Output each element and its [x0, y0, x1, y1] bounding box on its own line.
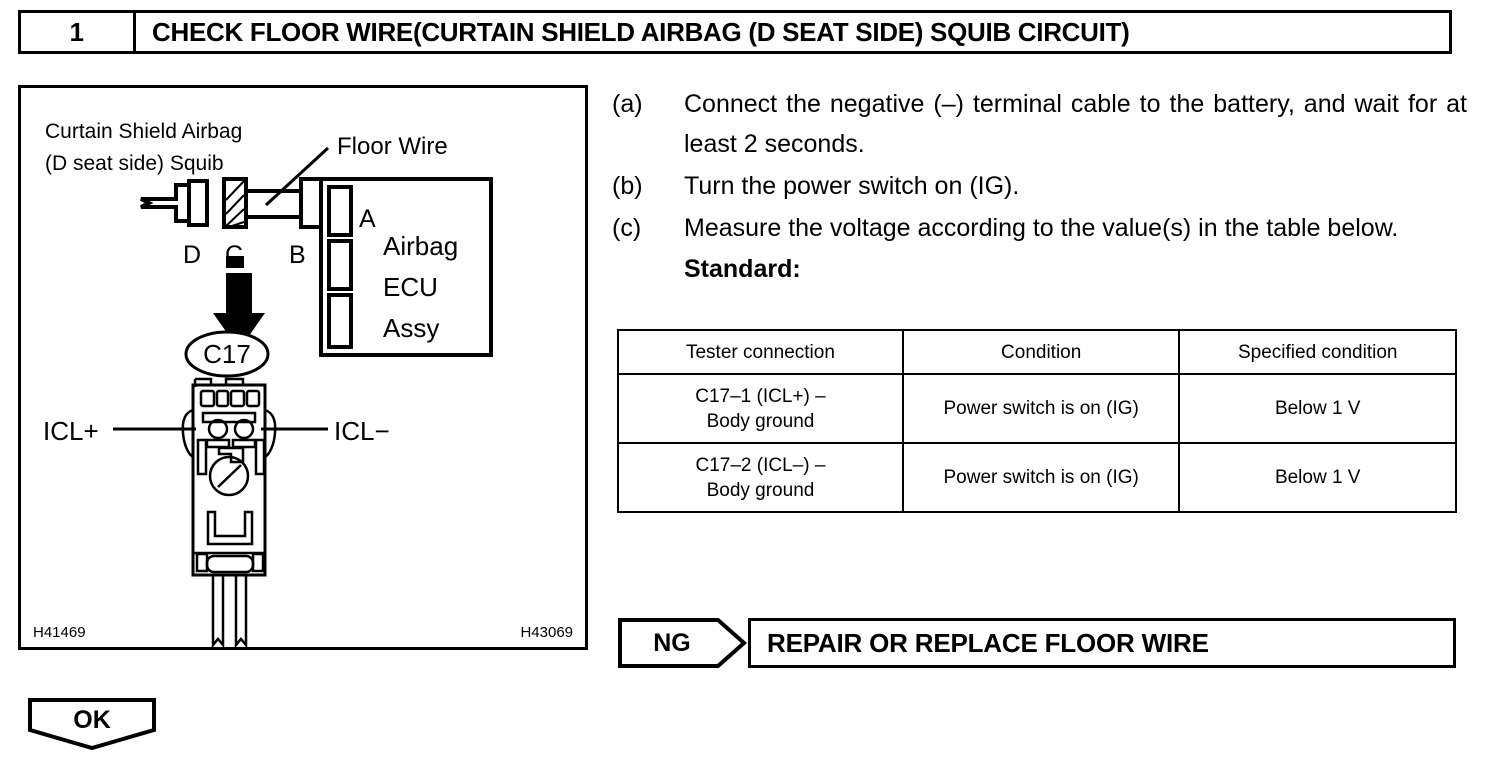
floor-wire-leader: [266, 148, 328, 205]
cell-condition: Power switch is on (IG): [903, 443, 1180, 512]
procedure-steps: (a) Connect the negative (–) terminal ca…: [612, 84, 1467, 288]
procedure-item-a-label: (a): [612, 84, 684, 124]
ok-tag: OK: [28, 698, 156, 750]
step-number: 1: [21, 13, 136, 51]
ng-label: NG: [618, 618, 726, 668]
squib-plug-d: [141, 185, 189, 221]
column-header-specified-condition: Specified condition: [1179, 330, 1456, 374]
column-header-condition: Condition: [903, 330, 1180, 374]
squib-barrel: [246, 191, 301, 217]
step-title: CHECK FLOOR WIRE(CURTAIN SHIELD AIRBAG (…: [136, 13, 1449, 51]
terminal-label-c: C: [225, 241, 243, 269]
connector-face: [183, 379, 275, 645]
figure-code-right: H43069: [520, 624, 573, 641]
table-row: C17–1 (ICL+) – Body ground Power switch …: [618, 374, 1456, 443]
ok-label: OK: [28, 698, 156, 742]
cell-tester-connection: C17–1 (ICL+) – Body ground: [618, 374, 903, 443]
ecu-port-2: [329, 241, 351, 289]
ecu-text-line3: Assy: [383, 313, 439, 343]
tester-connection-line1: C17–2 (ICL–) –: [696, 455, 826, 476]
ecu-port-a: [329, 187, 351, 235]
cell-condition: Power switch is on (IG): [903, 374, 1180, 443]
table-header-row: Tester connection Condition Specified co…: [618, 330, 1456, 374]
standard-label: Standard:: [684, 250, 1467, 288]
ng-tag: NG: [618, 618, 748, 668]
floor-wire-label: Floor Wire: [337, 133, 448, 160]
procedure-item-b-text: Turn the power switch on (IG).: [684, 166, 1467, 206]
figure-caption-line1: Curtain Shield Airbag: [45, 120, 242, 143]
icl-minus-label: ICL−: [334, 416, 390, 446]
procedure-item-b: (b) Turn the power switch on (IG).: [612, 166, 1467, 206]
connector-id-label: C17: [203, 339, 251, 369]
squib-collar-b: [301, 179, 321, 227]
figure-panel: Curtain Shield Airbag (D seat side) Squi…: [18, 85, 588, 650]
figure-caption-line2: (D seat side) Squib: [45, 152, 224, 175]
ng-action-text: REPAIR OR REPLACE FLOOR WIRE: [748, 618, 1456, 668]
figure-code-left: H41469: [33, 624, 86, 641]
wiring-diagram: Curtain Shield Airbag (D seat side) Squi…: [21, 88, 585, 647]
icl-plus-label: ICL+: [43, 416, 99, 446]
tester-connection-line2: Body ground: [707, 411, 815, 432]
ecu-text-line1: Airbag: [383, 231, 458, 261]
ecu-text-line2: ECU: [383, 272, 438, 302]
column-header-tester-connection: Tester connection: [618, 330, 903, 374]
table-row: C17–2 (ICL–) – Body ground Power switch …: [618, 443, 1456, 512]
ecu-port-3: [329, 295, 351, 347]
procedure-item-b-label: (b): [612, 166, 684, 206]
procedure-item-c-text: Measure the voltage according to the val…: [684, 208, 1467, 248]
cell-specified-condition: Below 1 V: [1179, 374, 1456, 443]
ecu-port-label-a: A: [359, 205, 376, 233]
procedure-item-c-label: (c): [612, 208, 684, 248]
squib-ferrule-c: [224, 179, 246, 227]
procedure-item-a-text: Connect the negative (–) terminal cable …: [684, 84, 1467, 164]
procedure-item-c: (c) Measure the voltage according to the…: [612, 208, 1467, 248]
terminal-label-b: B: [289, 241, 306, 269]
tester-connection-line1: C17–1 (ICL+) –: [695, 386, 825, 407]
squib-collar-d: [189, 181, 207, 225]
procedure-item-a: (a) Connect the negative (–) terminal ca…: [612, 84, 1467, 164]
ng-result-banner: NG REPAIR OR REPLACE FLOOR WIRE: [618, 618, 1456, 668]
tester-connection-line2: Body ground: [707, 480, 815, 501]
cell-specified-condition: Below 1 V: [1179, 443, 1456, 512]
ferrule-hatching: [226, 181, 244, 226]
cell-tester-connection: C17–2 (ICL–) – Body ground: [618, 443, 903, 512]
terminal-label-d: D: [183, 241, 201, 269]
step-header: 1 CHECK FLOOR WIRE(CURTAIN SHIELD AIRBAG…: [18, 10, 1452, 54]
specification-table: Tester connection Condition Specified co…: [617, 329, 1457, 513]
